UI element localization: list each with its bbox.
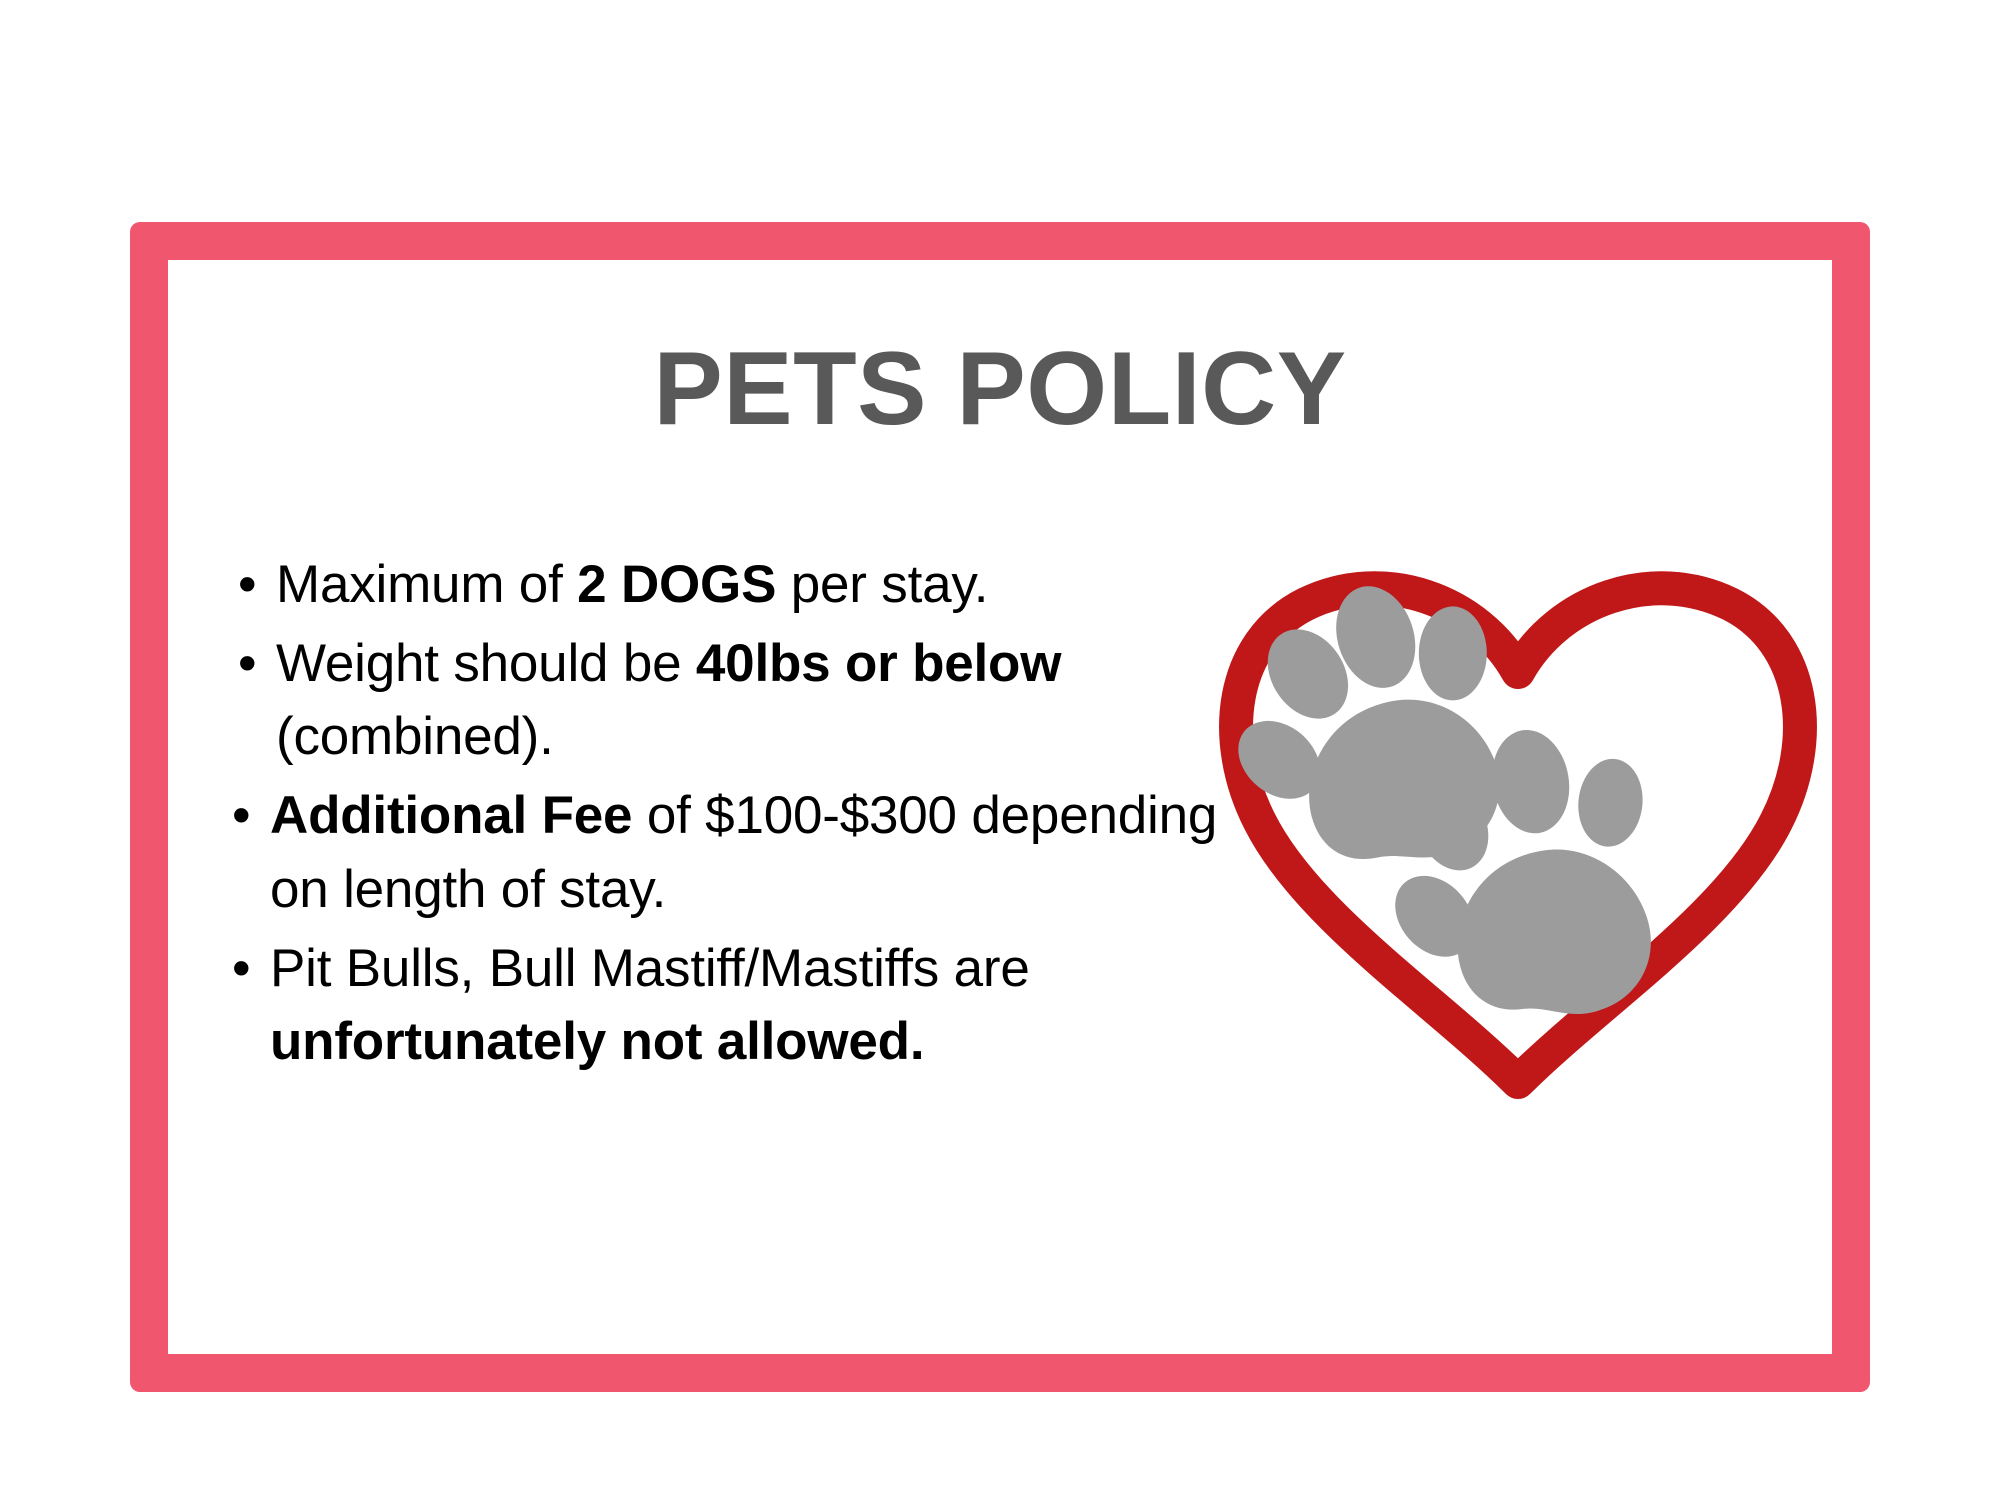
heart-paw-prints-icon <box>1188 522 1848 1122</box>
policy-text-max-dogs: Maximum of 2 DOGS per stay. <box>276 555 988 614</box>
list-item: • Pit Bulls, Bull Mastiff/Mastiffs are u… <box>228 932 1228 1078</box>
bullet-dot-icon: • <box>232 779 250 852</box>
list-item: • Maximum of 2 DOGS per stay. <box>228 548 1228 621</box>
policy-text-weight-limit: Weight should be 40lbs or below (combine… <box>276 634 1061 766</box>
bullet-dot-icon: • <box>238 548 256 621</box>
body-text: per stay. <box>776 555 988 614</box>
bullet-dot-icon: • <box>238 627 256 700</box>
body-text: Maximum of <box>276 555 577 614</box>
emphasis-text: 2 DOGS <box>577 555 776 614</box>
page-title: PETS POLICY <box>168 335 1832 444</box>
policy-text-additional-fee: Additional Fee of $100-$300 depending on… <box>270 786 1217 918</box>
policy-list: • Maximum of 2 DOGS per stay. • Weight s… <box>228 548 1228 1084</box>
poster-inner-panel: PETS POLICY • Maximum of 2 DOGS per stay… <box>168 260 1832 1354</box>
bullet-dot-icon: • <box>232 932 250 1005</box>
emphasis-text: 40lbs or below <box>696 634 1061 693</box>
list-item: • Additional Fee of $100-$300 depending … <box>228 779 1228 925</box>
emphasis-text: unfortunately not allowed. <box>270 1012 924 1071</box>
body-text: Pit Bulls, Bull Mastiff/Mastiffs are <box>270 939 1030 998</box>
policy-text-breed-restriction: Pit Bulls, Bull Mastiff/Mastiffs are unf… <box>270 939 1030 1071</box>
emphasis-text: Additional Fee <box>270 786 632 845</box>
body-text: Weight should be <box>276 634 696 693</box>
body-text: (combined). <box>276 707 554 766</box>
list-item: • Weight should be 40lbs or below (combi… <box>228 627 1228 773</box>
poster-frame: PETS POLICY • Maximum of 2 DOGS per stay… <box>130 222 1870 1392</box>
